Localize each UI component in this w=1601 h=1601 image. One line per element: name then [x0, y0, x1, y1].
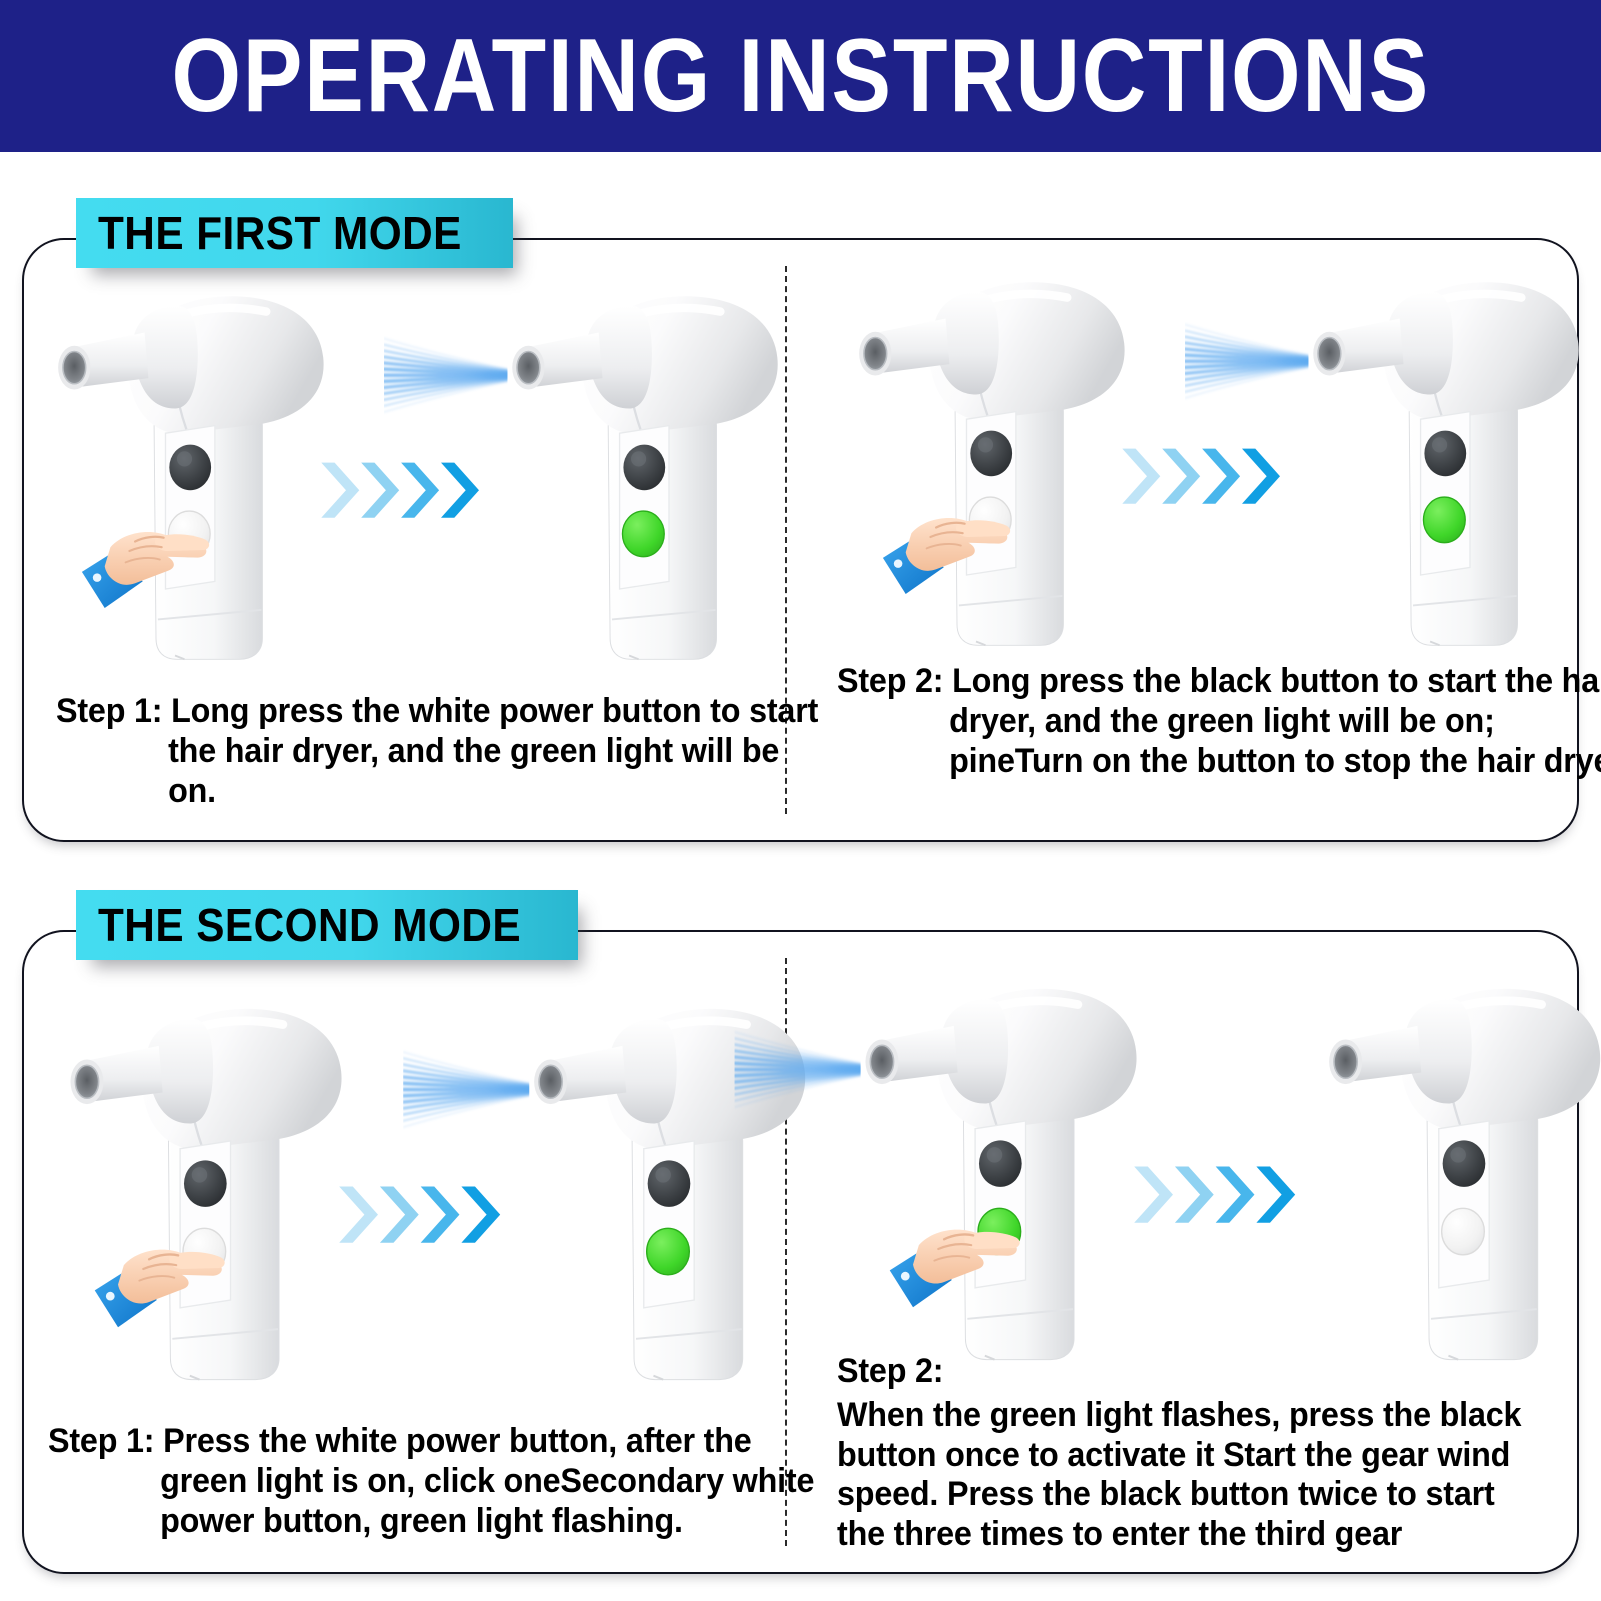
device-illustration-before [54, 978, 345, 1400]
air-blower-icon [518, 978, 809, 1395]
airflow-lines-icon [403, 1048, 529, 1136]
mode-badge-first: THE FIRST MODE [76, 198, 513, 268]
transition-arrows [1134, 1162, 1318, 1226]
airflow-lines-icon [384, 334, 508, 420]
green-led-button [622, 511, 664, 557]
device-illustration-after [518, 978, 809, 1400]
green-led-button [1423, 497, 1465, 543]
mode-badge-label: THE FIRST MODE [98, 210, 462, 256]
transition-arrows [339, 1182, 523, 1246]
mode-card-second: THE SECOND MODE [22, 930, 1579, 1574]
header-banner: OPERATING INSTRUCTIONS [0, 0, 1601, 152]
step-text-second-1: Step 1: Press the white power button, af… [48, 1422, 844, 1541]
transition-arrows [321, 458, 502, 521]
step-label-second-2: Step 2: [837, 1352, 1531, 1392]
panel-first-step1: Step 1: Long press the white power butto… [24, 240, 785, 840]
white-power-button [1442, 1208, 1485, 1255]
device-illustration-before [42, 266, 327, 679]
air-blower-icon [1313, 958, 1601, 1375]
transition-arrows [1122, 444, 1303, 507]
step-text-first-1: Step 1: Long press the white power butto… [56, 692, 833, 811]
white-power-button [168, 511, 210, 557]
step-text-second-2: Step 2: When the green light flashes, pr… [837, 1352, 1531, 1555]
panel-first-step2: Step 2: Long press the black button to s… [785, 240, 1577, 840]
device-illustration-before [849, 958, 1140, 1380]
air-blower-icon [42, 266, 327, 675]
air-blower-icon [849, 958, 1140, 1375]
air-blower-icon [1297, 252, 1582, 661]
green-led-button [978, 1208, 1021, 1255]
device-illustration-after [496, 266, 781, 679]
green-led-button [647, 1228, 690, 1275]
chevron-right-icon [339, 1182, 523, 1246]
device-illustration-before [843, 252, 1128, 665]
white-power-button [969, 497, 1011, 543]
mode-badge-second: THE SECOND MODE [76, 890, 578, 960]
device-illustration-after [1313, 958, 1601, 1380]
panel-second-step2: Step 2: When the green light flashes, pr… [785, 932, 1577, 1572]
mode-card-first: THE FIRST MODE [22, 238, 1579, 842]
air-blower-icon [843, 252, 1128, 661]
chevron-right-icon [321, 458, 502, 521]
step-text-first-2: Step 2: Long press the black button to s… [837, 662, 1601, 781]
chevron-right-icon [1134, 1162, 1318, 1226]
panel-second-step1: Step 1: Press the white power button, af… [24, 932, 785, 1572]
chevron-right-icon [1122, 444, 1303, 507]
page-title: OPERATING INSTRUCTIONS [171, 24, 1430, 128]
air-blower-icon [54, 978, 345, 1395]
step-body-second-2: When the green light flashes, press the … [837, 1396, 1531, 1555]
device-illustration-after [1297, 252, 1582, 665]
airflow-lines-icon [1185, 320, 1309, 406]
mode-badge-label: THE SECOND MODE [98, 902, 521, 948]
white-power-button [183, 1228, 226, 1275]
air-blower-icon [496, 266, 781, 675]
